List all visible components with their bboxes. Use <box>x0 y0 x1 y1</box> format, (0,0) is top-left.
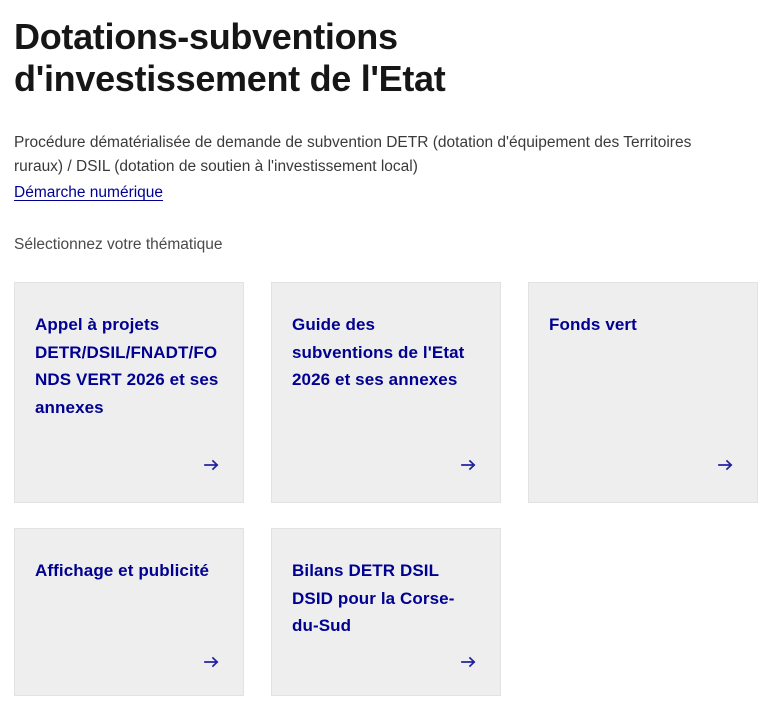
card-title: Appel à projets DETR/DSIL/FNADT/FONDS VE… <box>35 311 223 421</box>
thematic-card-grid: Appel à projets DETR/DSIL/FNADT/FONDS VE… <box>14 256 758 696</box>
page-container: Dotations-subventions d'investissement d… <box>0 0 774 718</box>
card-title: Bilans DETR DSIL DSID pour la Corse-du-S… <box>292 557 480 640</box>
card-fonds-vert[interactable]: Fonds vert <box>528 282 758 503</box>
link-row: Démarche numérique <box>14 179 760 205</box>
card-affichage-et-publicite[interactable]: Affichage et publicité <box>14 528 244 696</box>
arrow-right-icon <box>203 653 221 671</box>
intro-paragraph: Procédure dématérialisée de demande de s… <box>14 101 714 179</box>
arrow-right-icon <box>203 456 221 474</box>
card-guide-des-subventions[interactable]: Guide des subventions de l'Etat 2026 et … <box>271 282 501 503</box>
card-title: Affichage et publicité <box>35 557 223 585</box>
select-thematic-label: Sélectionnez votre thématique <box>14 205 760 256</box>
arrow-right-icon <box>717 456 735 474</box>
page-title: Dotations-subventions d'investissement d… <box>14 0 574 101</box>
card-bilans-detr-dsil-dsid[interactable]: Bilans DETR DSIL DSID pour la Corse-du-S… <box>271 528 501 696</box>
card-title: Guide des subventions de l'Etat 2026 et … <box>292 311 480 394</box>
demarche-numerique-link[interactable]: Démarche numérique <box>14 181 163 205</box>
arrow-right-icon <box>460 456 478 474</box>
arrow-right-icon <box>460 653 478 671</box>
card-appel-a-projets[interactable]: Appel à projets DETR/DSIL/FNADT/FONDS VE… <box>14 282 244 503</box>
card-title: Fonds vert <box>549 311 737 339</box>
